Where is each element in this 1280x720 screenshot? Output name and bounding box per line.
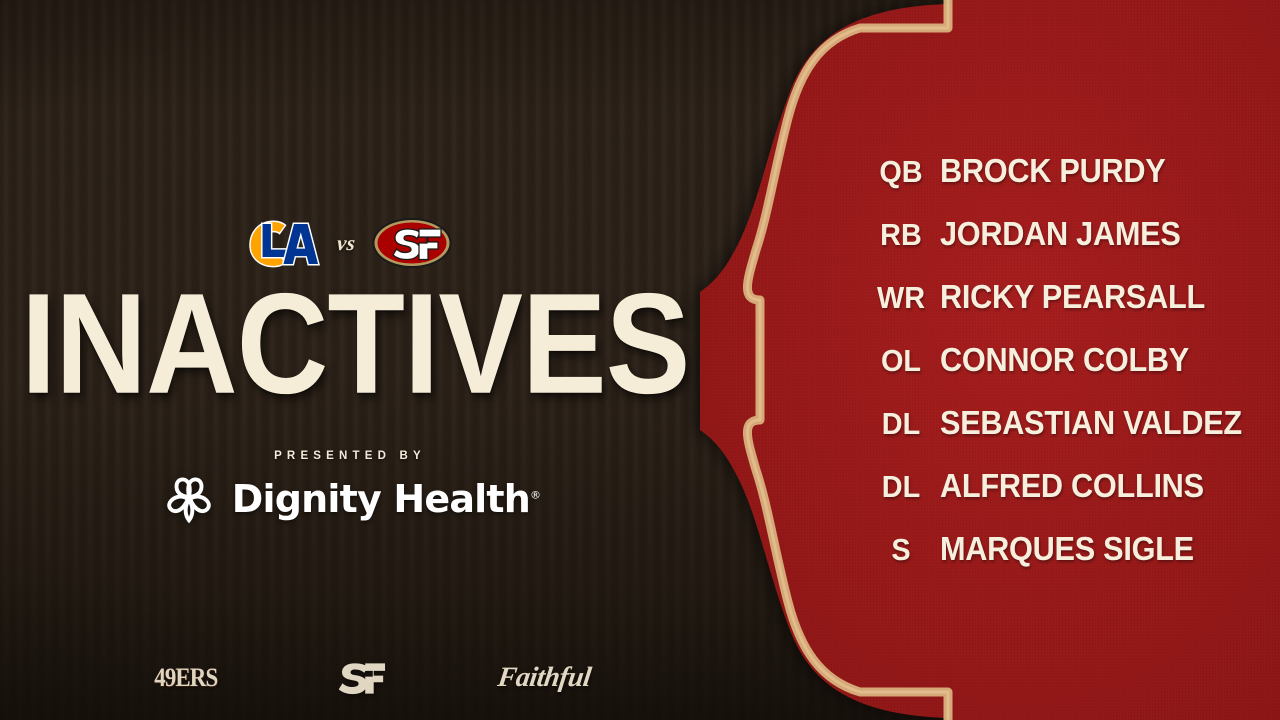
roster-row: OL CONNOR COLBY [862, 341, 1262, 404]
versus-label: vs [335, 231, 356, 256]
dignity-health-flower-icon [160, 471, 218, 527]
sf-monogram-icon [334, 660, 386, 696]
49ers-wordmark: 49ERS [154, 663, 217, 693]
roster-row: RB JORDAN JAMES [862, 215, 1262, 278]
faithful-script-logo: Faithful [495, 662, 592, 694]
player-position: DL [865, 469, 938, 505]
roster-row: DL ALFRED COLLINS [862, 467, 1262, 530]
sponsor-name-text: Dignity Health [232, 477, 530, 521]
player-position: DL [865, 406, 938, 442]
left-content-column: vs INACTIVES PRESENTED BY [0, 0, 700, 720]
roster-row: QB BROCK PURDY [862, 152, 1262, 215]
presented-by-label: PRESENTED BY [0, 450, 700, 462]
player-position: WR [865, 280, 938, 316]
player-position: S [865, 532, 938, 568]
player-name: SEBASTIAN VALDEZ [940, 404, 1242, 442]
player-name: MARQUES SIGLE [940, 530, 1239, 568]
inactives-roster-list: QB BROCK PURDY RB JORDAN JAMES WR RICKY … [862, 152, 1262, 593]
player-name: RICKY PEARSALL [940, 278, 1239, 316]
inactives-graphic: vs INACTIVES PRESENTED BY [0, 0, 1280, 720]
player-position: RB [865, 217, 938, 253]
sponsor-logo: Dignity Health® [0, 470, 700, 528]
registered-trademark-icon: ® [530, 488, 540, 501]
player-name: BROCK PURDY [940, 152, 1239, 190]
player-name: JORDAN JAMES [940, 215, 1239, 253]
roster-row: WR RICKY PEARSALL [862, 278, 1262, 341]
roster-row: DL SEBASTIAN VALDEZ [862, 404, 1262, 467]
player-name: CONNOR COLBY [940, 341, 1239, 379]
footer-brand-marks: 49ERS Faithful [150, 660, 590, 696]
sponsor-name: Dignity Health® [232, 477, 540, 521]
rams-logo-icon [247, 217, 321, 269]
player-position: QB [865, 154, 938, 190]
niners-logo-icon [371, 216, 453, 270]
page-title: INACTIVES [21, 272, 679, 415]
player-position: OL [865, 343, 938, 379]
roster-row: S MARQUES SIGLE [862, 530, 1262, 593]
player-name: ALFRED COLLINS [940, 467, 1239, 505]
